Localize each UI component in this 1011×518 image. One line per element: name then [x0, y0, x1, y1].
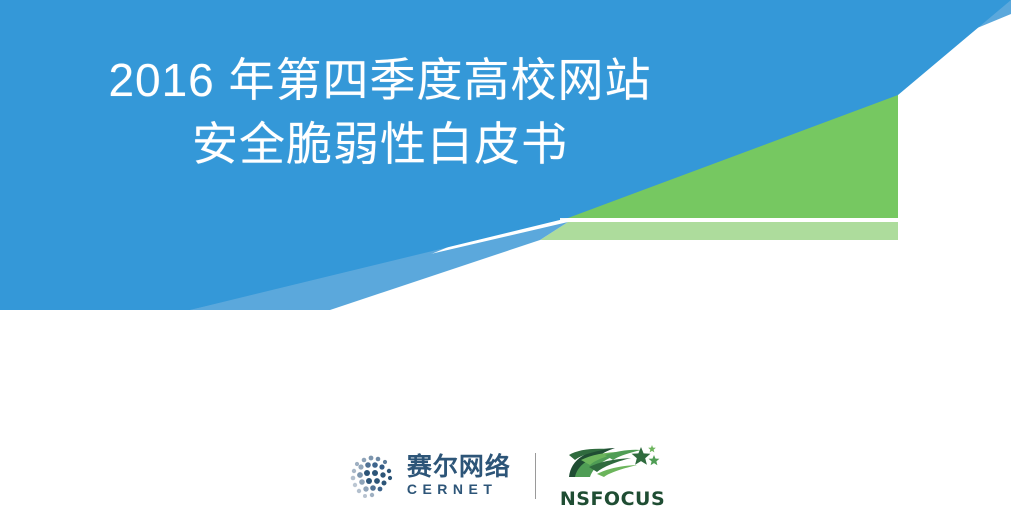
cernet-wordmark: 赛尔网络 CERNET: [407, 454, 511, 498]
title-line-1: 2016 年第四季度高校网站: [0, 48, 760, 112]
light-green-band-shape: [540, 222, 898, 240]
cernet-chinese-name: 赛尔网络: [407, 454, 511, 481]
logo-divider: [535, 453, 536, 499]
title-line-2: 安全脆弱性白皮书: [0, 112, 760, 176]
logo-cernet: 赛尔网络 CERNET: [346, 451, 511, 501]
green-swoosh-stars-icon: [561, 443, 665, 487]
nsfocus-wordmark: NSFOCUS: [560, 489, 665, 509]
green-band-gap: [560, 218, 900, 222]
cernet-english-name: CERNET: [407, 481, 498, 498]
logo-nsfocus: NSFOCUS: [560, 443, 665, 509]
slide-title: 2016 年第四季度高校网站 安全脆弱性白皮书: [0, 48, 760, 176]
cover-slide: 2016 年第四季度高校网站 安全脆弱性白皮书: [0, 0, 1011, 518]
dotted-globe-icon: [346, 451, 398, 501]
footer-logo-bar: 赛尔网络 CERNET: [0, 440, 1011, 512]
